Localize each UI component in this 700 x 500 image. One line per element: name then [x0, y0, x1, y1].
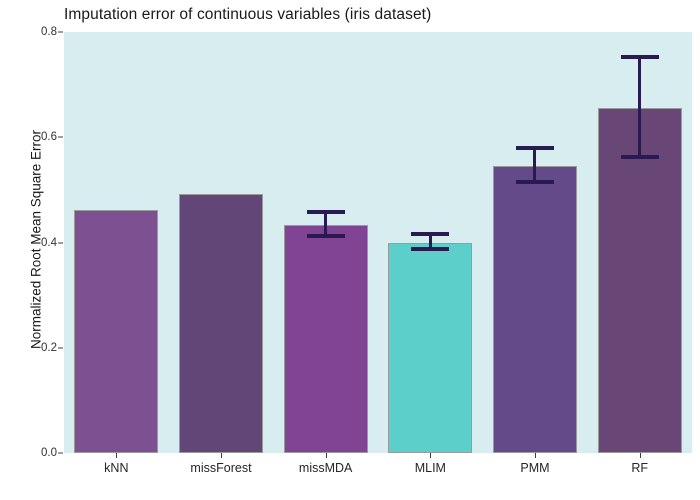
x-axis-tick-mark [430, 453, 431, 458]
error-bar-cap-upper [516, 146, 554, 150]
bar-knn[interactable] [74, 210, 158, 453]
y-axis-title: Normalized Root Mean Square Error [29, 110, 44, 370]
y-axis-tick-mark [58, 453, 63, 454]
x-axis-tick-mark [326, 453, 327, 458]
chart-title: Imputation error of continuous variables… [64, 6, 431, 24]
y-axis-tick-mark [58, 242, 63, 243]
y-axis-tick-text: 0.4 [41, 237, 64, 249]
y-axis-tick-label: 0.8 [0, 26, 64, 38]
y-axis-tick-text: 0.6 [41, 131, 64, 143]
y-axis-tick-text: 0.2 [41, 342, 64, 354]
x-axis-tick-mark [640, 453, 641, 458]
y-axis-tick-text: 0.8 [41, 26, 64, 38]
x-axis-tick-label-rf: RF [587, 461, 692, 475]
x-axis-tick-mark [116, 453, 117, 458]
x-axis-tick-label-missforest: missForest [169, 461, 274, 475]
error-bar-cap-upper [307, 210, 345, 214]
x-axis-tick-label-mlim: MLIM [378, 461, 483, 475]
error-bar-cap-upper [411, 232, 449, 236]
bar-rf[interactable] [598, 108, 682, 453]
x-axis-tick-label-pmm: PMM [483, 461, 588, 475]
y-axis-tick-mark [58, 347, 63, 348]
y-axis-tick-text: 0.0 [41, 447, 64, 459]
x-axis-tick-label-missmda: missMDA [273, 461, 378, 475]
bar-missforest[interactable] [179, 194, 263, 453]
y-axis-tick-mark [58, 137, 63, 138]
plot-panel [64, 32, 692, 453]
chart-container: Imputation error of continuous variables… [0, 0, 700, 500]
bar-pmm[interactable] [493, 166, 577, 453]
y-axis-tick-mark [58, 32, 63, 33]
error-bar-cap-upper [621, 55, 659, 59]
x-axis-tick-mark [221, 453, 222, 458]
bar-mlim[interactable] [388, 243, 472, 453]
x-axis-tick-mark [535, 453, 536, 458]
x-axis-tick-label-knn: kNN [64, 461, 169, 475]
y-axis-tick-label: 0.0 [0, 447, 64, 459]
bar-missmda[interactable] [284, 225, 368, 453]
